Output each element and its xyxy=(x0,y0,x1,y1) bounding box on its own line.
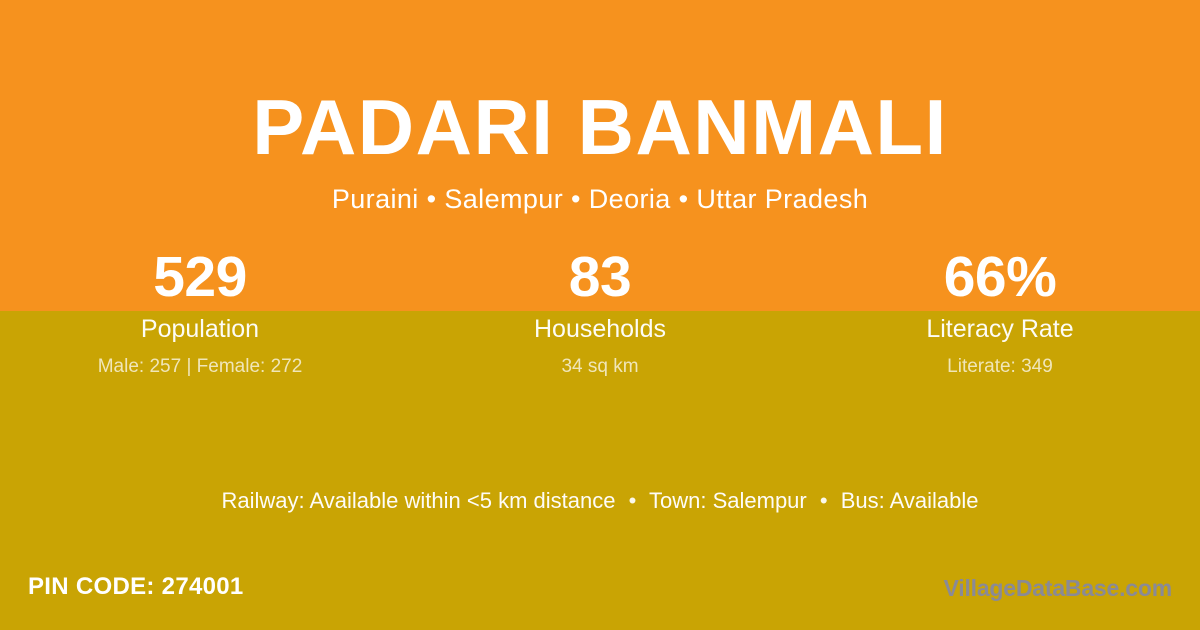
stat-literacy-rate: 66% Literacy Rate Literate: 349 xyxy=(800,246,1200,378)
card-footer: PIN CODE: 274001 VillageDataBase.com xyxy=(0,560,1200,630)
facility-separator-1: • xyxy=(622,488,644,513)
site-watermark: VillageDataBase.com xyxy=(944,573,1172,603)
village-info-card: PADARI BANMALI Puraini • Salempur • Deor… xyxy=(0,0,1200,630)
stat-value-population: 529 xyxy=(0,246,400,308)
pin-code-label: PIN CODE: 274001 xyxy=(28,572,244,602)
stat-households: 83 Households 34 sq km xyxy=(400,246,800,378)
stats-row: 529 Population Male: 257 | Female: 272 8… xyxy=(0,246,1200,378)
facilities-line: Railway: Available within <5 km distance… xyxy=(0,486,1200,515)
stat-sub-literacy-rate: Literate: 349 xyxy=(800,355,1200,378)
facility-railway: Railway: Available within <5 km distance xyxy=(221,488,615,513)
stat-sub-households: 34 sq km xyxy=(400,355,800,378)
stat-population: 529 Population Male: 257 | Female: 272 xyxy=(0,246,400,378)
facility-town: Town: Salempur xyxy=(649,488,807,513)
stat-label-literacy-rate: Literacy Rate xyxy=(800,315,1200,344)
stat-label-population: Population xyxy=(0,315,400,344)
breadcrumb: Puraini • Salempur • Deoria • Uttar Prad… xyxy=(0,182,1200,216)
stat-sub-population: Male: 257 | Female: 272 xyxy=(0,355,400,378)
facility-separator-2: • xyxy=(813,488,835,513)
facility-bus: Bus: Available xyxy=(841,488,979,513)
stat-value-literacy-rate: 66% xyxy=(800,246,1200,308)
page-title: PADARI BANMALI xyxy=(0,82,1200,172)
stat-value-households: 83 xyxy=(400,246,800,308)
stat-label-households: Households xyxy=(400,315,800,344)
